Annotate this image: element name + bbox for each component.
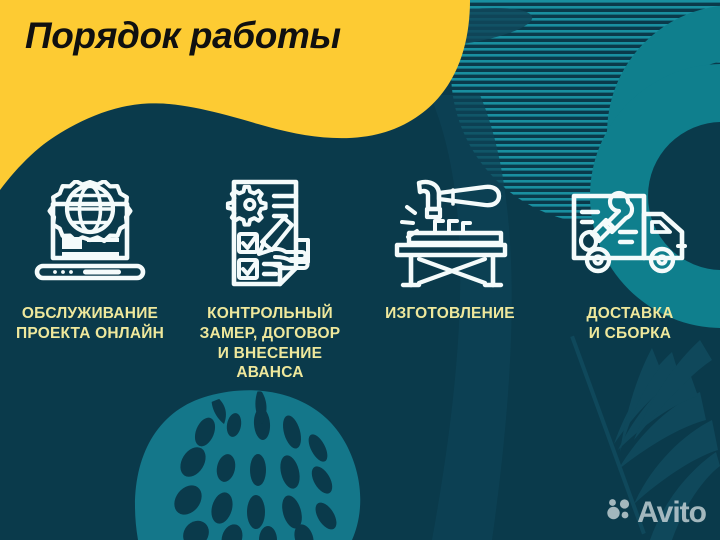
step-label-1-line-2: ПРОЕКТА ОНЛАЙН xyxy=(16,324,164,344)
contract-signing-icon xyxy=(218,178,322,290)
step-label-2: КОНТРОЛЬНЫЙ ЗАМЕР, ДОГОВОР И ВНЕСЕНИЕ АВ… xyxy=(184,304,356,383)
step-item-1: ОБСЛУЖИВАНИЕ ПРОЕКТА ОНЛАЙН xyxy=(0,178,180,344)
avito-dots-icon xyxy=(606,497,632,528)
step-label-4: ДОСТАВКА И СБОРКА xyxy=(586,304,673,344)
step-label-1-line-1: ОБСЛУЖИВАНИЕ xyxy=(16,304,164,324)
step-item-2: КОНТРОЛЬНЫЙ ЗАМЕР, ДОГОВОР И ВНЕСЕНИЕ АВ… xyxy=(180,178,360,383)
delivery-truck-wrench-icon xyxy=(570,178,690,290)
step-item-4: ДОСТАВКА И СБОРКА xyxy=(540,178,720,344)
page-title: Порядок работы xyxy=(25,16,341,57)
step-label-2-line-1: КОНТРОЛЬНЫЙ xyxy=(184,304,356,324)
poster-canvas: Порядок работы xyxy=(0,0,720,540)
step-label-2-line-2: ЗАМЕР, ДОГОВОР xyxy=(184,324,356,344)
avito-wordmark: Avito xyxy=(637,498,706,528)
laptop-globe-gear-icon xyxy=(31,178,149,290)
workbench-hammer-icon xyxy=(389,178,511,290)
step-item-3: ИЗГОТОВЛЕНИЕ xyxy=(360,178,540,324)
step-label-3-line-1: ИЗГОТОВЛЕНИЕ xyxy=(385,304,515,324)
step-label-4-line-2: И СБОРКА xyxy=(586,324,673,344)
steps-row: ОБСЛУЖИВАНИЕ ПРОЕКТА ОНЛАЙН xyxy=(0,178,720,383)
avito-watermark: Avito xyxy=(606,497,706,528)
step-label-2-line-3: И ВНЕСЕНИЕ АВАНСА xyxy=(184,344,356,384)
step-label-1: ОБСЛУЖИВАНИЕ ПРОЕКТА ОНЛАЙН xyxy=(16,304,164,344)
step-label-4-line-1: ДОСТАВКА xyxy=(586,304,673,324)
step-label-3: ИЗГОТОВЛЕНИЕ xyxy=(385,304,515,324)
